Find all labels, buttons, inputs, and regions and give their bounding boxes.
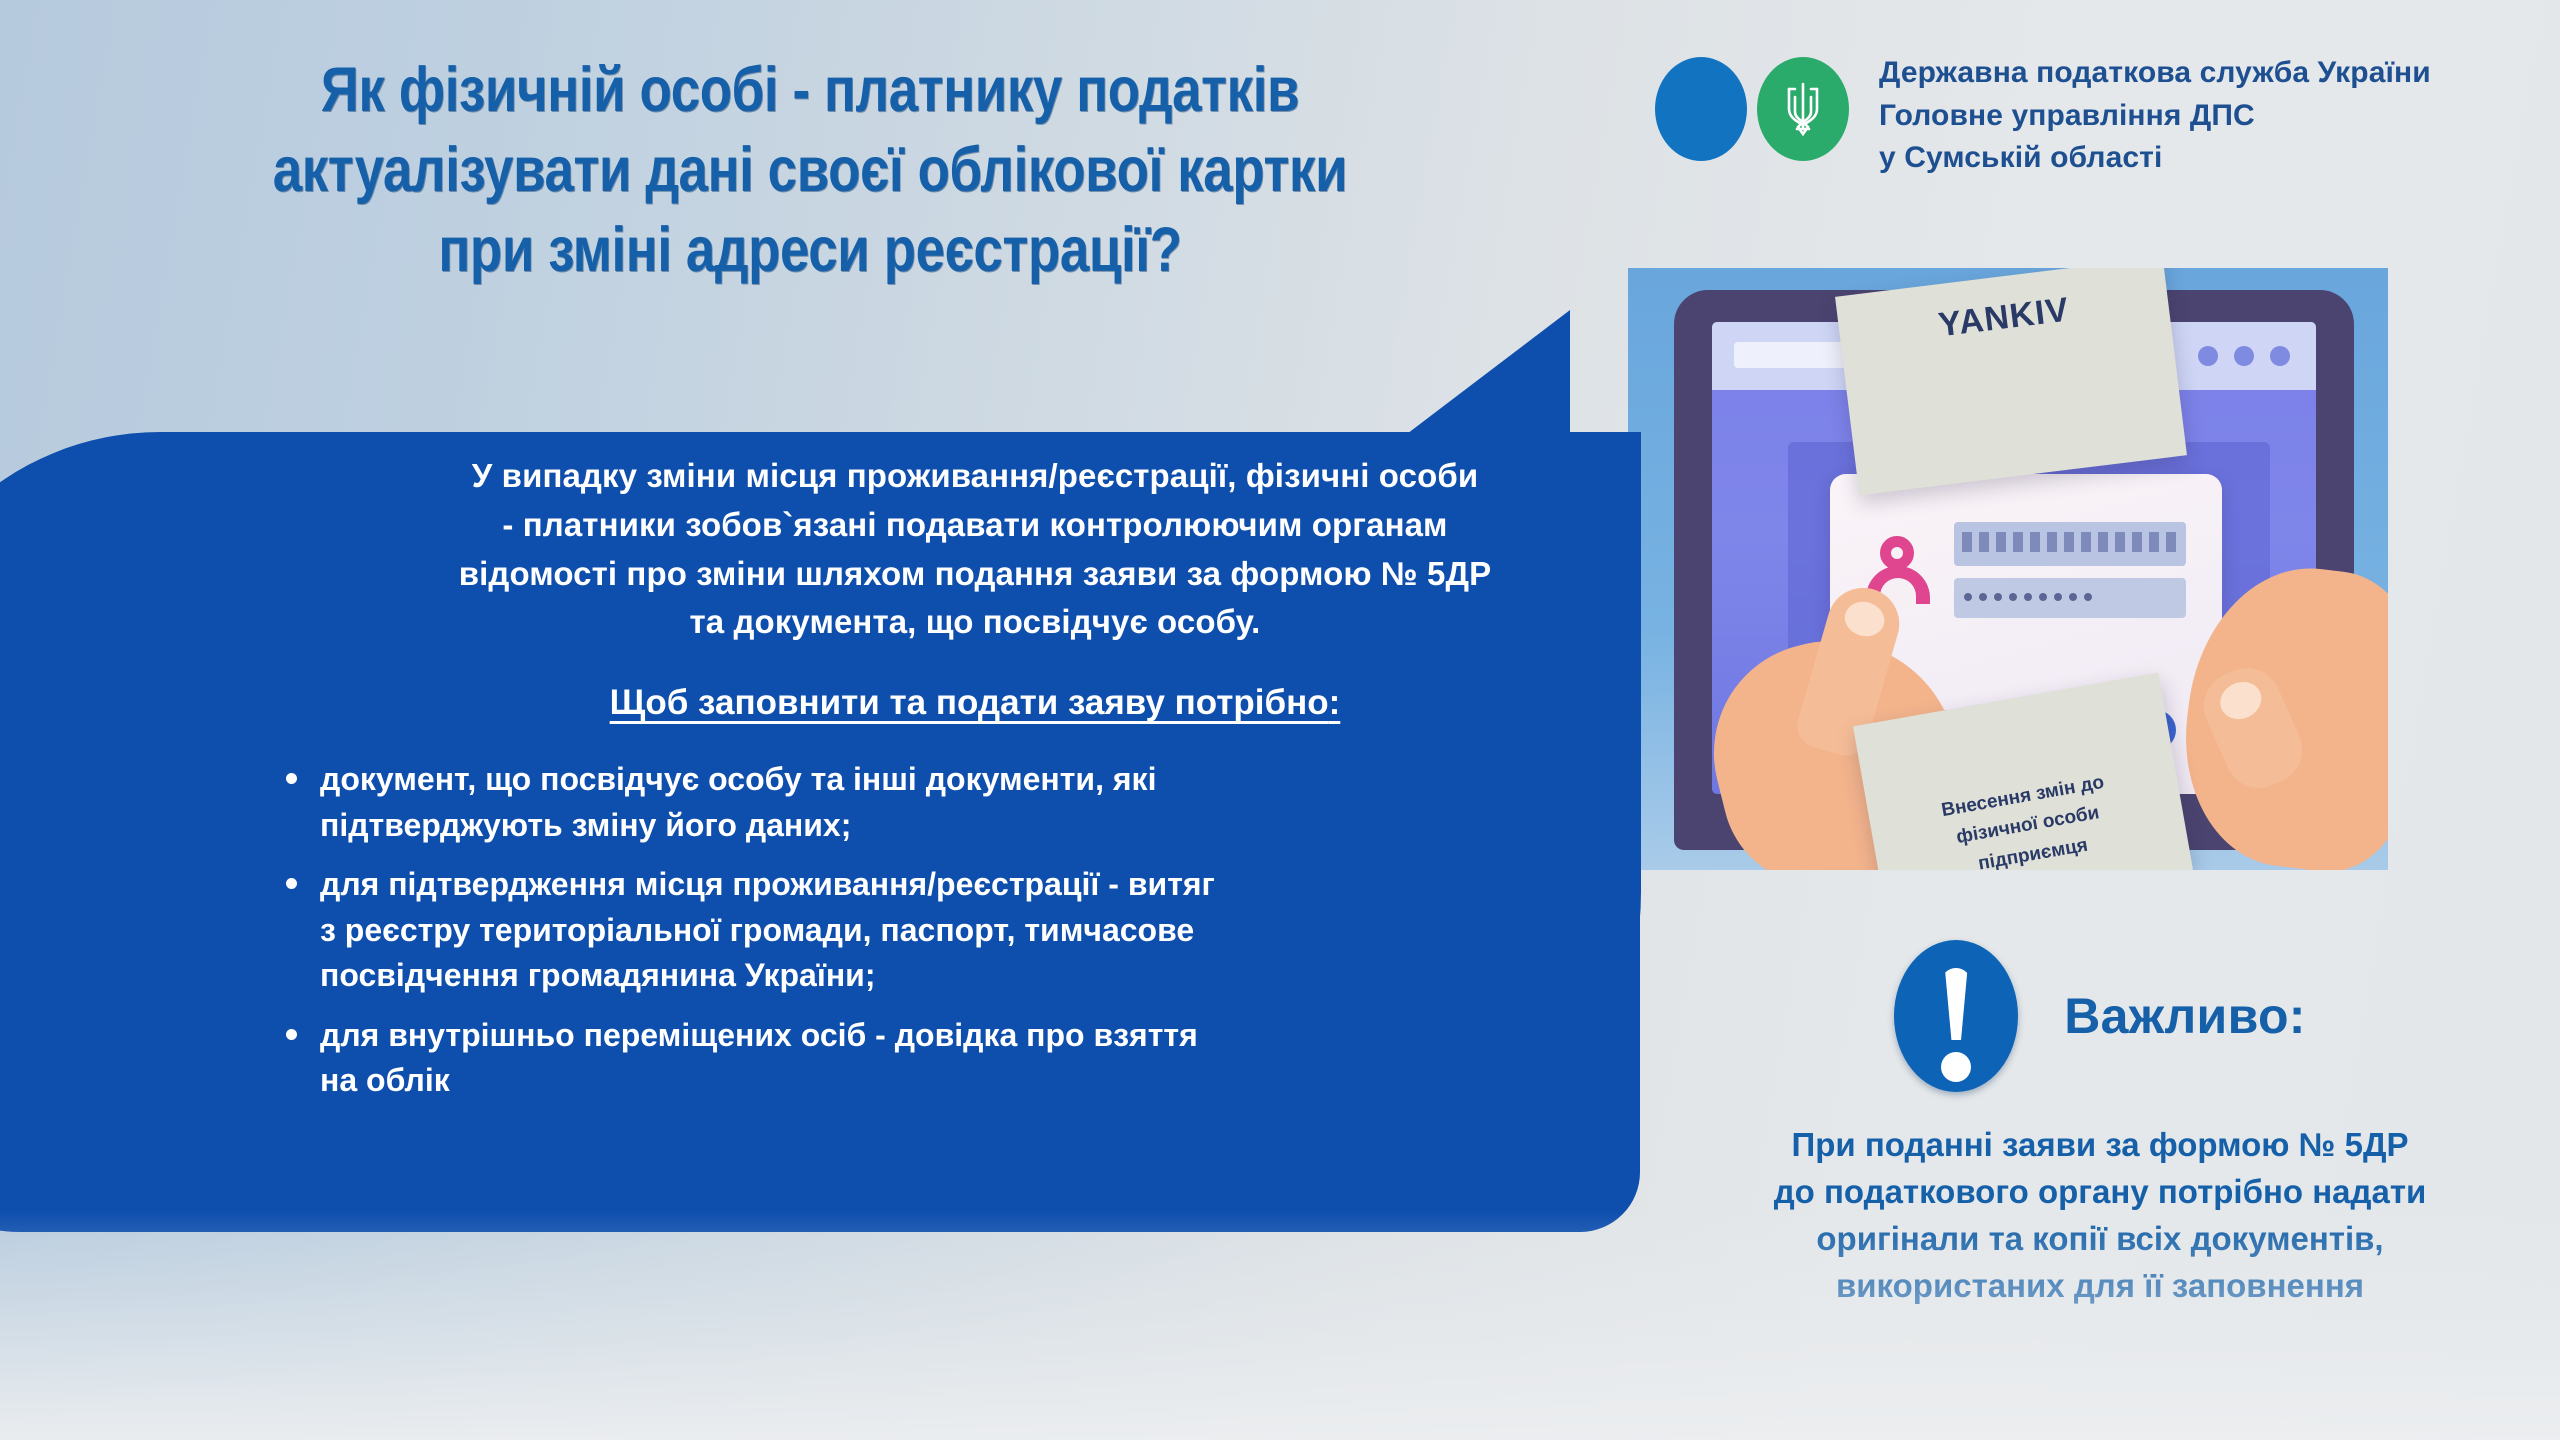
speech-bubble-content: У випадку зміни місця проживання/реєстра… — [240, 452, 1710, 1117]
bullet-2-line-3: посвідчення громадянина України; — [320, 953, 1710, 998]
important-body: При поданні заяви за формою № 5ДР до под… — [1660, 1122, 2540, 1309]
organization-logo-block: Державна податкова служба України Головн… — [1655, 52, 2431, 175]
list-item: для внутрішньо переміщених осіб - довідк… — [276, 1013, 1710, 1104]
important-line-1: При поданні заяви за формою № 5ДР — [1660, 1122, 2540, 1169]
requirements-subheading-text: Щоб заповнити та подати заяву потрібно — [610, 683, 1329, 722]
org-line-1: Державна податкова служба України — [1879, 56, 2431, 90]
important-line-4: використаних для її заповнення — [1660, 1263, 2540, 1310]
paper-bottom-label: Внесення змін до фізичної особи підприєм… — [1929, 713, 2116, 870]
title-line-2: актуалізувати дані своєї облікової картк… — [188, 130, 1431, 210]
requirements-subheading: Щоб заповнити та подати заяву потрібно: — [240, 683, 1710, 723]
title-line-1: Як фізичній особі - платнику податків — [188, 50, 1431, 130]
intro-paragraph: У випадку зміни місця проживання/реєстра… — [240, 452, 1710, 647]
requirements-subheading-colon: : — [1329, 683, 1341, 722]
org-line-3: у Сумській області — [1879, 141, 2431, 175]
logo-marks — [1655, 57, 1849, 161]
bullet-3-line-1: для внутрішньо переміщених осіб - довідк… — [320, 1013, 1710, 1058]
list-item: документ, що посвідчує особу та інші док… — [276, 757, 1710, 848]
requirements-list: документ, що посвідчує особу та інші док… — [240, 757, 1710, 1103]
paper-top-label: YANKIV — [1936, 291, 2071, 346]
organization-name: Державна податкова служба України Головн… — [1879, 52, 2431, 175]
intro-line-2: - платники зобов`язані подавати контролю… — [240, 501, 1710, 550]
title-line-3: при зміні адреси реєстрації? — [188, 210, 1431, 290]
important-line-2: до податкового органу потрібно надати — [1660, 1169, 2540, 1216]
infographic-poster: Державна податкова служба України Головн… — [0, 0, 2560, 1440]
intro-line-1: У випадку зміни місця проживання/реєстра… — [240, 452, 1710, 501]
intro-line-3: відомості про зміни шляхом подання заяви… — [240, 550, 1710, 599]
logo-green-trident-icon — [1757, 57, 1849, 161]
list-item: для підтвердження місця проживання/реєст… — [276, 862, 1710, 998]
logo-blue-circle-icon — [1655, 57, 1747, 161]
bullet-2-line-1: для підтвердження місця проживання/реєст… — [320, 862, 1710, 907]
important-header: Важливо: — [1660, 940, 2540, 1092]
bullet-2-line-2: з реєстру територіальної громади, паспор… — [320, 908, 1710, 953]
bullet-1-line-2: підтверджують зміну його даних; — [320, 803, 1710, 848]
intro-line-4: та документа, що посвідчує особу. — [240, 598, 1710, 647]
login-password-field — [1954, 578, 2186, 618]
bullet-3-line-2: на облік — [320, 1058, 1710, 1103]
browser-dots-icon — [2198, 346, 2290, 366]
bullet-1-line-1: документ, що посвідчує особу та інші док… — [320, 757, 1710, 802]
important-notice: Важливо: При поданні заяви за формою № 5… — [1660, 940, 2540, 1309]
exclamation-icon — [1894, 940, 2018, 1092]
important-title: Важливо: — [2064, 987, 2306, 1045]
login-username-field — [1954, 522, 2186, 566]
poster-title: Як фізичній особі - платнику податків ак… — [188, 50, 1431, 290]
important-line-3: оригінали та копії всіх документів, — [1660, 1216, 2540, 1263]
paper-card-top: YANKIV — [1835, 268, 2187, 495]
illustration-tablet-hands: YANKIV Внесення змін до фізичної особи п… — [1628, 268, 2388, 870]
org-line-2: Головне управління ДПС — [1879, 99, 2431, 133]
